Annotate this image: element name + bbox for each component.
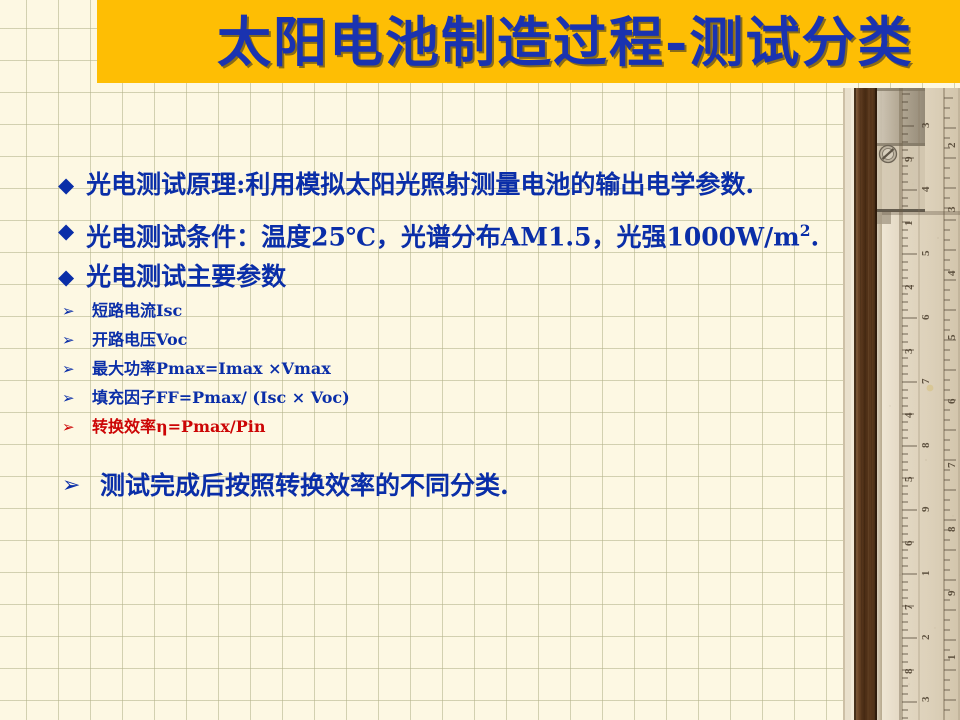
sub-bullet-label: 转换效率η=Pmax/Pin bbox=[92, 416, 266, 438]
title-band: 太阳电池制造过程-测试分类 bbox=[97, 0, 960, 83]
slide-body: ◆ 光电测试原理:利用模拟太阳光照射测量电池的输出电学参数. ◆ 光电测试条件：… bbox=[0, 0, 960, 720]
closing-bullet: ➢ 测试完成后按照转换效率的不同分类. bbox=[62, 470, 509, 502]
bullet-text-parameters: 光电测试主要参数 bbox=[86, 262, 286, 292]
sub-bullet-label: 开路电压Voc bbox=[92, 329, 187, 351]
conditions-text-pre: 光电测试条件：温度25℃，光谱分布AM1.5，光强1000W/m bbox=[86, 222, 800, 251]
sub-bullet-pmax: ➢ 最大功率Pmax=Imax ×Vmax bbox=[62, 358, 331, 380]
page-title: 太阳电池制造过程-测试分类 bbox=[217, 2, 913, 82]
diamond-bullet-icon: ◆ bbox=[58, 262, 74, 292]
arrow-bullet-icon: ➢ bbox=[62, 329, 92, 351]
bullet-item-conditions: ◆ 光电测试条件：温度25℃，光谱分布AM1.5，光强1000W/m2. bbox=[58, 216, 819, 252]
slide-canvas: 3 4 5 6 7 8 9 1 2 3 9 1 2 3 4 5 6 7 8 2 bbox=[0, 0, 960, 720]
bullet-text-conditions: 光电测试条件：温度25℃，光谱分布AM1.5，光强1000W/m2. bbox=[86, 216, 819, 252]
arrow-bullet-icon: ➢ bbox=[62, 470, 100, 502]
sub-bullet-isc: ➢ 短路电流Isc bbox=[62, 300, 182, 322]
diamond-bullet-icon: ◆ bbox=[58, 216, 74, 246]
arrow-bullet-icon: ➢ bbox=[62, 387, 92, 409]
sub-bullet-fill-factor: ➢ 填充因子FF=Pmax/ (Isc × Voc) bbox=[62, 387, 350, 409]
sub-bullet-label: 最大功率Pmax=Imax ×Vmax bbox=[92, 358, 331, 380]
bullet-item-principle: ◆ 光电测试原理:利用模拟太阳光照射测量电池的输出电学参数. bbox=[58, 170, 754, 200]
arrow-bullet-icon: ➢ bbox=[62, 300, 92, 322]
bullet-item-parameters: ◆ 光电测试主要参数 bbox=[58, 262, 286, 292]
sub-bullet-label: 短路电流Isc bbox=[92, 300, 182, 322]
closing-bullet-label: 测试完成后按照转换效率的不同分类. bbox=[100, 470, 509, 502]
arrow-bullet-icon: ➢ bbox=[62, 416, 92, 438]
bullet-text-principle: 光电测试原理:利用模拟太阳光照射测量电池的输出电学参数. bbox=[86, 170, 754, 200]
arrow-bullet-icon: ➢ bbox=[62, 358, 92, 380]
sub-bullet-efficiency: ➢ 转换效率η=Pmax/Pin bbox=[62, 416, 266, 438]
diamond-bullet-icon: ◆ bbox=[58, 170, 74, 200]
conditions-text-post: . bbox=[811, 222, 820, 251]
conditions-superscript: 2 bbox=[800, 221, 811, 240]
sub-bullet-label: 填充因子FF=Pmax/ (Isc × Voc) bbox=[92, 387, 350, 409]
sub-bullet-voc: ➢ 开路电压Voc bbox=[62, 329, 187, 351]
